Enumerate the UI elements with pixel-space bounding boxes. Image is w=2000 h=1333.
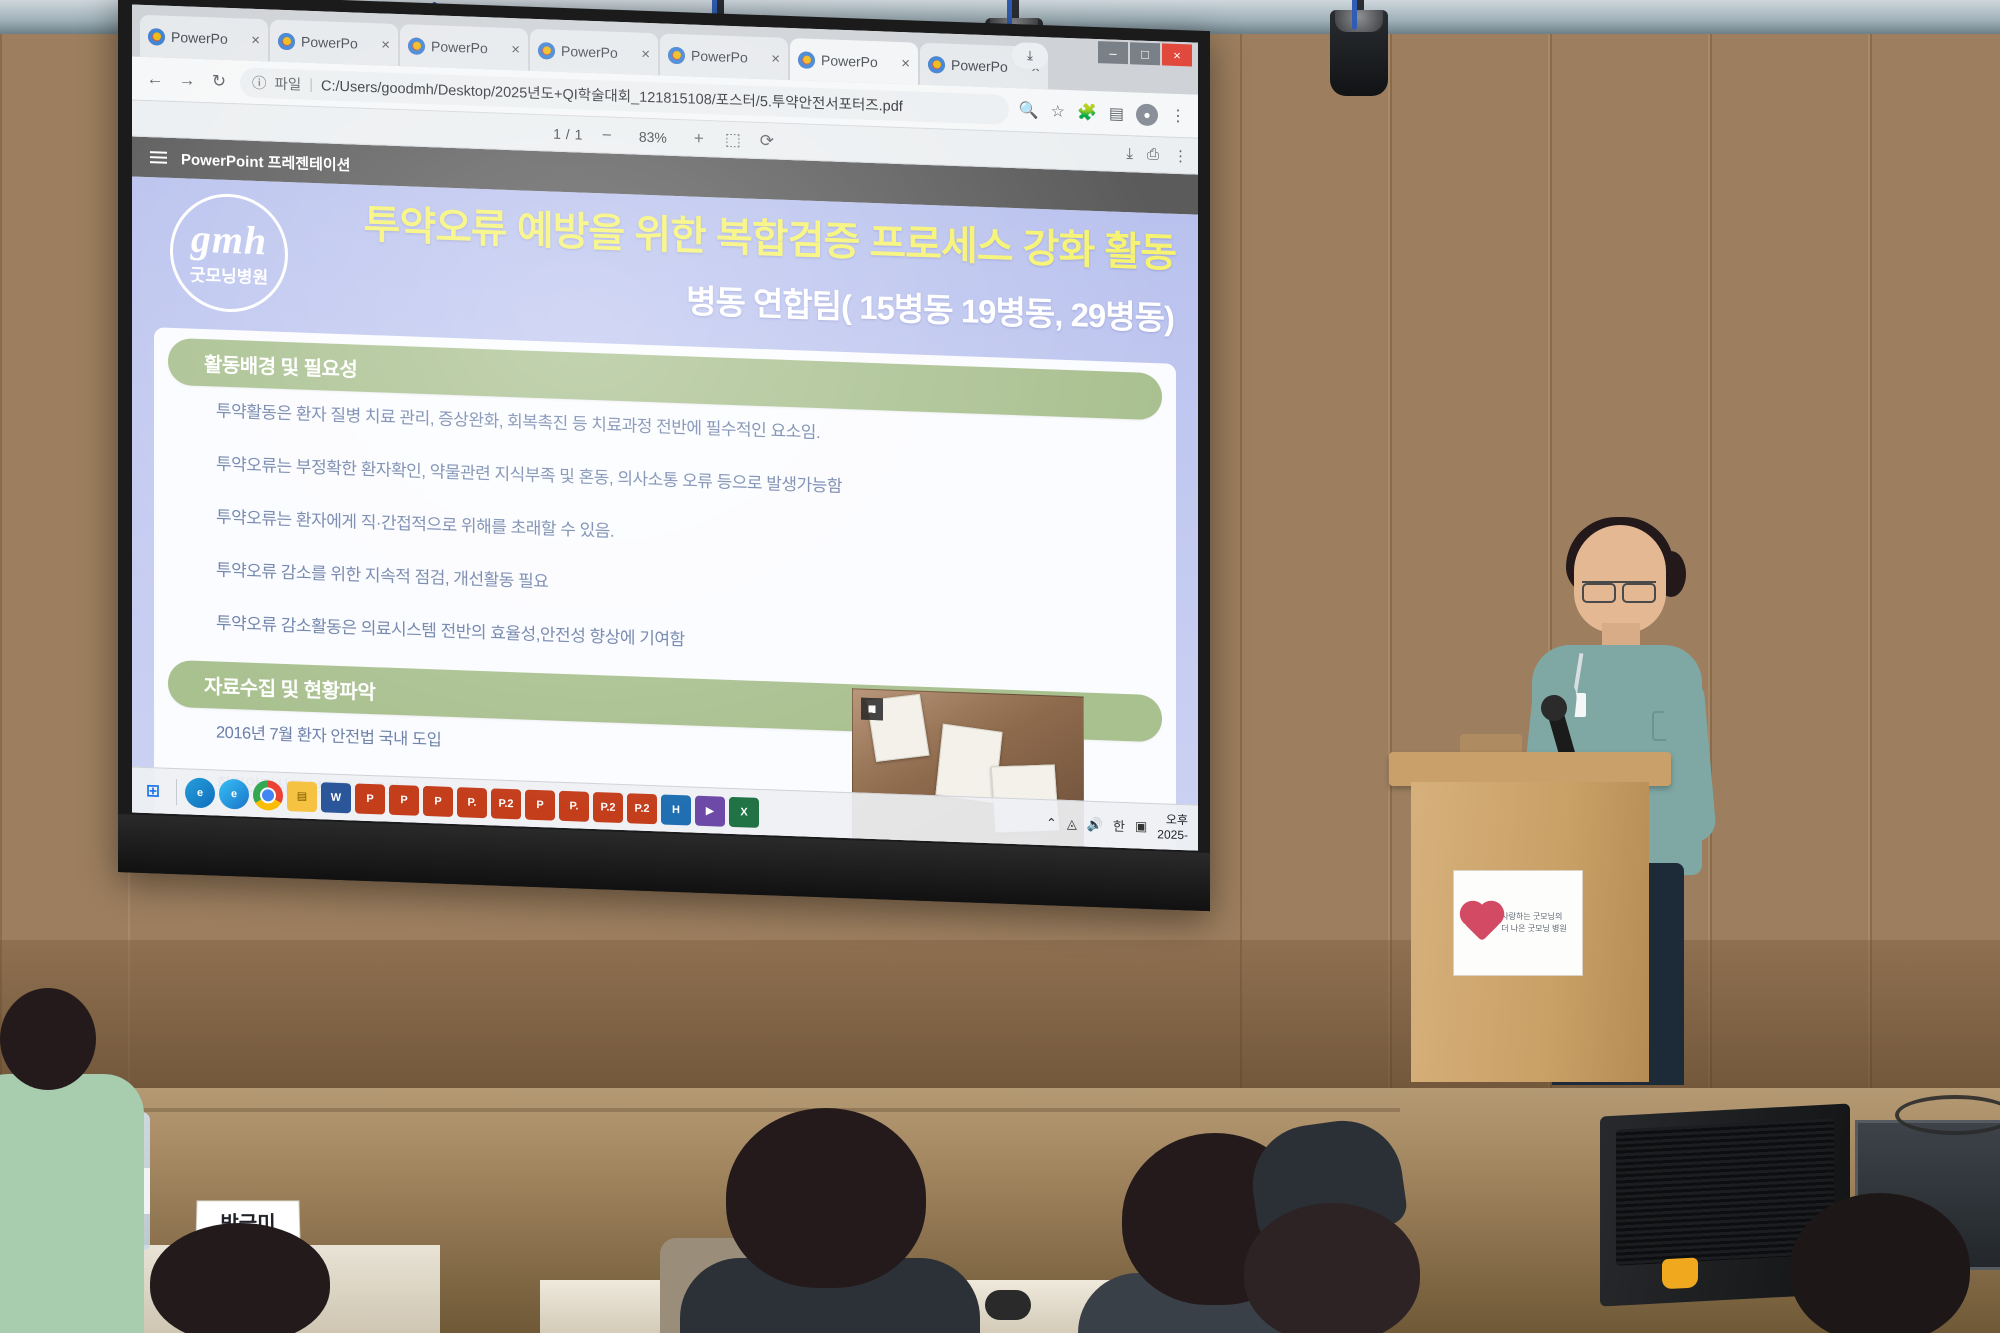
pdf-right-tools: ⤓ ⎙ ⋮	[1126, 145, 1188, 165]
audience-head	[1244, 1203, 1420, 1333]
taskbar-item-powerpoint[interactable]: P.2	[491, 788, 521, 819]
podium: 사랑하는 굿모닝의 더 나은 굿모닝 병원	[1405, 752, 1655, 1082]
profile-avatar[interactable]: ●	[1136, 103, 1158, 126]
lamp-lens	[1335, 10, 1383, 32]
window-controls: – □ ×	[1098, 41, 1192, 66]
search-icon[interactable]: 🔍	[1019, 100, 1039, 121]
tab-label: PowerPo	[691, 48, 765, 67]
extensions-icon[interactable]: 🧩	[1077, 102, 1097, 123]
hamburger-icon[interactable]	[150, 151, 167, 164]
hospital-logo: gmh 굿모닝병원	[170, 192, 288, 314]
pdf-document-title: PowerPoint 프레젠테이션	[181, 148, 350, 175]
rotate-icon[interactable]: ⟳	[757, 130, 777, 151]
tab-label: PowerPo	[561, 43, 635, 62]
taskbar-item-excel[interactable]: X	[729, 796, 759, 827]
taskbar-item-powerpoint[interactable]: P	[525, 789, 555, 820]
taskbar-item-hwp[interactable]: H	[661, 794, 691, 825]
window-minimize-button[interactable]: –	[1098, 41, 1128, 64]
taskbar-item-ie[interactable]: e	[219, 778, 249, 809]
clock-ampm: 오후	[1157, 812, 1188, 828]
toolbar-actions: 🔍 ☆ 🧩 ▤ ● ⋮	[1019, 99, 1186, 127]
seated-judge	[0, 988, 144, 1333]
bullet-item: 투약오류는 부정확한 환자확인, 약물관련 지식부족 및 혼동, 의사소통 오류…	[216, 450, 1176, 509]
print-icon[interactable]: ⎙	[1147, 145, 1159, 163]
taskbar-item-powerpoint[interactable]: P.	[457, 787, 487, 818]
chrome-favicon-icon	[148, 28, 165, 46]
tab-close-icon[interactable]: ×	[901, 55, 910, 72]
audience-head	[1790, 1193, 1970, 1333]
tab-close-icon[interactable]: ×	[511, 41, 520, 58]
slide-title: 투약오류 예방을 위한 복합검증 프로세스 강화 활동	[302, 201, 1176, 276]
barcode-icon	[861, 698, 883, 721]
chrome-favicon-icon	[928, 55, 945, 73]
zoom-level-value: 83%	[631, 128, 675, 146]
chrome-favicon-icon	[278, 32, 295, 50]
tab-label: PowerPo	[431, 38, 505, 57]
taskbar-item-powerpoint[interactable]: P	[389, 784, 419, 815]
audience-head	[150, 1223, 330, 1333]
judge-jacket	[0, 1074, 144, 1333]
taskbar-item-powerpoint[interactable]: P	[423, 785, 453, 816]
browser-tab[interactable]: PowerPo ×	[660, 33, 788, 80]
audience-member	[700, 1108, 950, 1333]
wall-panel	[1870, 0, 2000, 1090]
browser-tab[interactable]: PowerPo ×	[140, 15, 268, 62]
start-button-icon[interactable]: ⊞	[138, 775, 168, 806]
lamp-cable	[1352, 0, 1357, 30]
browser-tab[interactable]: PowerPo ×	[530, 29, 658, 76]
forward-icon[interactable]: →	[176, 70, 198, 91]
audience-member	[150, 1223, 340, 1333]
wall-panel	[1710, 0, 1870, 1090]
wall-panel	[0, 0, 130, 1090]
bullet-item: 투약오류는 환자에게 직·간접적으로 위해를 초래할 수 있음.	[216, 503, 1176, 562]
fit-page-icon[interactable]: ⬚	[723, 129, 743, 150]
browser-tab[interactable]: PowerPo ×	[400, 24, 528, 71]
logo-name-text: 굿모닝병원	[190, 260, 268, 288]
system-tray: ⌃ ◬ 🔊 한 ▣ 오후 2025-	[1046, 808, 1192, 843]
stage-lamp	[1330, 0, 1388, 96]
chrome-favicon-icon	[668, 46, 685, 64]
tab-label: PowerPo	[821, 52, 895, 71]
window-maximize-button[interactable]: □	[1130, 42, 1160, 65]
tab-close-icon[interactable]: ×	[251, 31, 260, 48]
speaker-brand-logo	[1662, 1257, 1698, 1289]
taskbar-item-word[interactable]: W	[321, 782, 351, 813]
audience-member	[1230, 1203, 1440, 1333]
reload-icon[interactable]: ↻	[208, 71, 230, 92]
audience-member	[1760, 1183, 2000, 1333]
taskbar-item-powerpoint[interactable]: P.2	[627, 793, 657, 824]
taskbar-item-powerpoint[interactable]: P	[355, 783, 385, 814]
tab-close-icon[interactable]: ×	[641, 45, 650, 62]
presenter-head	[1574, 525, 1666, 633]
slide-subtitle: 병동 연합팀( 15병동 19병동, 29병동)	[686, 274, 1174, 339]
podium-sign-line-2: 더 나은 굿모닝 병원	[1501, 923, 1567, 935]
chrome-browser-window: PowerPo × PowerPo × PowerPo × PowerPo ×	[132, 5, 1198, 851]
taskbar-item-media-player[interactable]: ▶	[695, 795, 725, 826]
taskbar-clock[interactable]: 오후 2025-	[1157, 812, 1188, 843]
chrome-favicon-icon	[798, 51, 815, 69]
network-icon[interactable]: ◬	[1067, 815, 1077, 831]
browser-tab[interactable]: PowerPo ×	[270, 19, 398, 66]
bookmark-star-icon[interactable]: ☆	[1051, 101, 1065, 122]
audience-head	[726, 1108, 926, 1288]
url-scheme-label: 파일	[275, 73, 302, 95]
bullet-item: 투약오류 감소를 위한 지속적 점검, 개선활동 필요	[216, 556, 1176, 615]
chrome-favicon-icon	[408, 37, 425, 55]
taskbar-item-edge[interactable]: e	[185, 777, 215, 808]
judge-head	[0, 988, 96, 1090]
taskbar-spacer	[763, 813, 1042, 823]
back-icon[interactable]: ←	[144, 68, 166, 89]
lamp-body	[1330, 10, 1388, 96]
pdf-page-indicator: 1 / 1	[553, 125, 583, 142]
taskbar-item-powerpoint[interactable]: P.	[559, 790, 589, 821]
notification-center-icon[interactable]: ▣	[1135, 818, 1147, 834]
download-bubble-icon[interactable]: ⤓	[1012, 42, 1048, 69]
chrome-menu-icon[interactable]: ⋮	[1170, 105, 1186, 126]
podium-sign-text: 사랑하는 굿모닝의 더 나은 굿모닝 병원	[1501, 911, 1567, 935]
volume-icon[interactable]: 🔊	[1087, 816, 1103, 833]
taskbar-item-chrome[interactable]	[253, 779, 283, 810]
pdf-page-slide: gmh 굿모닝병원 투약오류 예방을 위한 복합검증 프로세스 강화 활동 병동…	[132, 177, 1198, 851]
bullet-item: 투약오류 감소활동은 의료시스템 전반의 효율성,안전성 향상에 기여함	[216, 609, 1176, 668]
download-icon[interactable]: ⤓	[1126, 145, 1133, 163]
tab-close-icon[interactable]: ×	[771, 50, 780, 67]
podium-sign-line-1: 사랑하는 굿모닝의	[1501, 911, 1567, 923]
tab-close-icon[interactable]: ×	[381, 36, 390, 53]
ime-indicator-icon[interactable]: 한	[1113, 816, 1125, 835]
pdf-more-menu-icon[interactable]: ⋮	[1173, 146, 1188, 165]
podium-top	[1389, 752, 1671, 786]
heart-icon	[1464, 905, 1501, 942]
url-divider: |	[309, 76, 313, 92]
podium-sign: 사랑하는 굿모닝의 더 나은 굿모닝 병원	[1453, 870, 1583, 976]
mic-head-icon	[985, 1290, 1031, 1320]
zoom-out-button[interactable]: −	[597, 125, 617, 146]
taskbar-divider	[176, 779, 177, 805]
taskbar-item-powerpoint[interactable]: P.2	[593, 792, 623, 823]
logo-mark-text: gmh	[191, 218, 267, 261]
tab-label: PowerPo	[171, 29, 245, 48]
browser-tab-active[interactable]: PowerPo ×	[790, 38, 918, 85]
slide-body: 활동배경 및 필요성 투약활동은 환자 질병 치료 관리, 증상완화, 회복촉진…	[154, 327, 1176, 850]
section-1-bullets: 투약활동은 환자 질병 치료 관리, 증상완화, 회복촉진 등 치료과정 전반에…	[154, 384, 1176, 668]
window-close-button[interactable]: ×	[1162, 43, 1192, 66]
zoom-in-button[interactable]: +	[689, 128, 709, 149]
chrome-favicon-icon	[538, 42, 555, 60]
projected-desktop: PowerPo × PowerPo × PowerPo × PowerPo ×	[132, 5, 1198, 851]
show-hidden-icons-icon[interactable]: ⌃	[1046, 815, 1057, 831]
projection-screen: PowerPo × PowerPo × PowerPo × PowerPo ×	[118, 0, 1210, 911]
glasses-icon	[1582, 581, 1656, 597]
tab-label: PowerPo	[301, 34, 375, 53]
side-panel-icon[interactable]: ▤	[1109, 103, 1124, 124]
wall-panel	[1240, 0, 1390, 1090]
clock-date: 2025-	[1157, 827, 1188, 843]
site-info-icon[interactable]: ⓘ	[252, 72, 267, 94]
floor-microphone	[985, 1290, 1055, 1333]
taskbar-item-folder[interactable]: ▤	[287, 781, 317, 812]
